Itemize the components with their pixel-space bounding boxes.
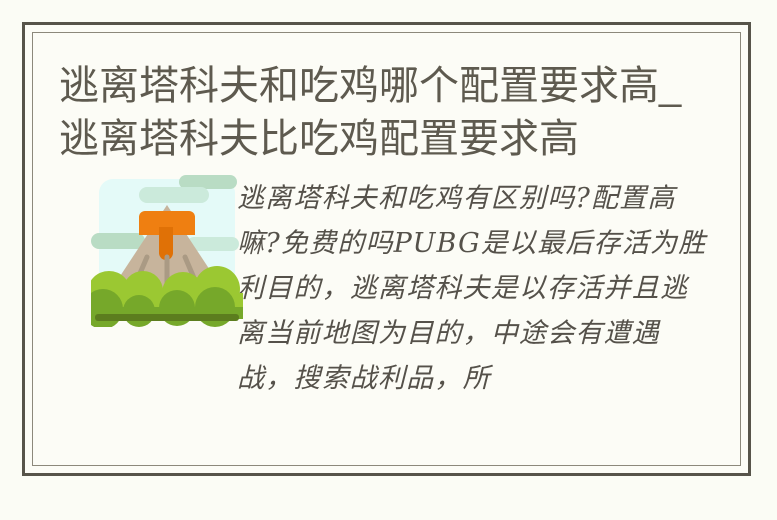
article-body: 逃离塔科夫和吃鸡有区别吗?配置高嘛?免费的吗PUBG是以最后存活为胜利目的，逃离… — [33, 166, 740, 401]
volcano-icon — [91, 175, 243, 327]
page-title: 逃离塔科夫和吃鸡哪个配置要求高_逃离塔科夫比吃鸡配置要求高 — [33, 33, 740, 166]
article-card-outer-frame: 逃离塔科夫和吃鸡哪个配置要求高_逃离塔科夫比吃鸡配置要求高 — [22, 22, 751, 476]
article-card-inner-frame: 逃离塔科夫和吃鸡哪个配置要求高_逃离塔科夫比吃鸡配置要求高 — [32, 32, 741, 466]
page-root: 逃离塔科夫和吃鸡哪个配置要求高_逃离塔科夫比吃鸡配置要求高 — [0, 0, 777, 520]
